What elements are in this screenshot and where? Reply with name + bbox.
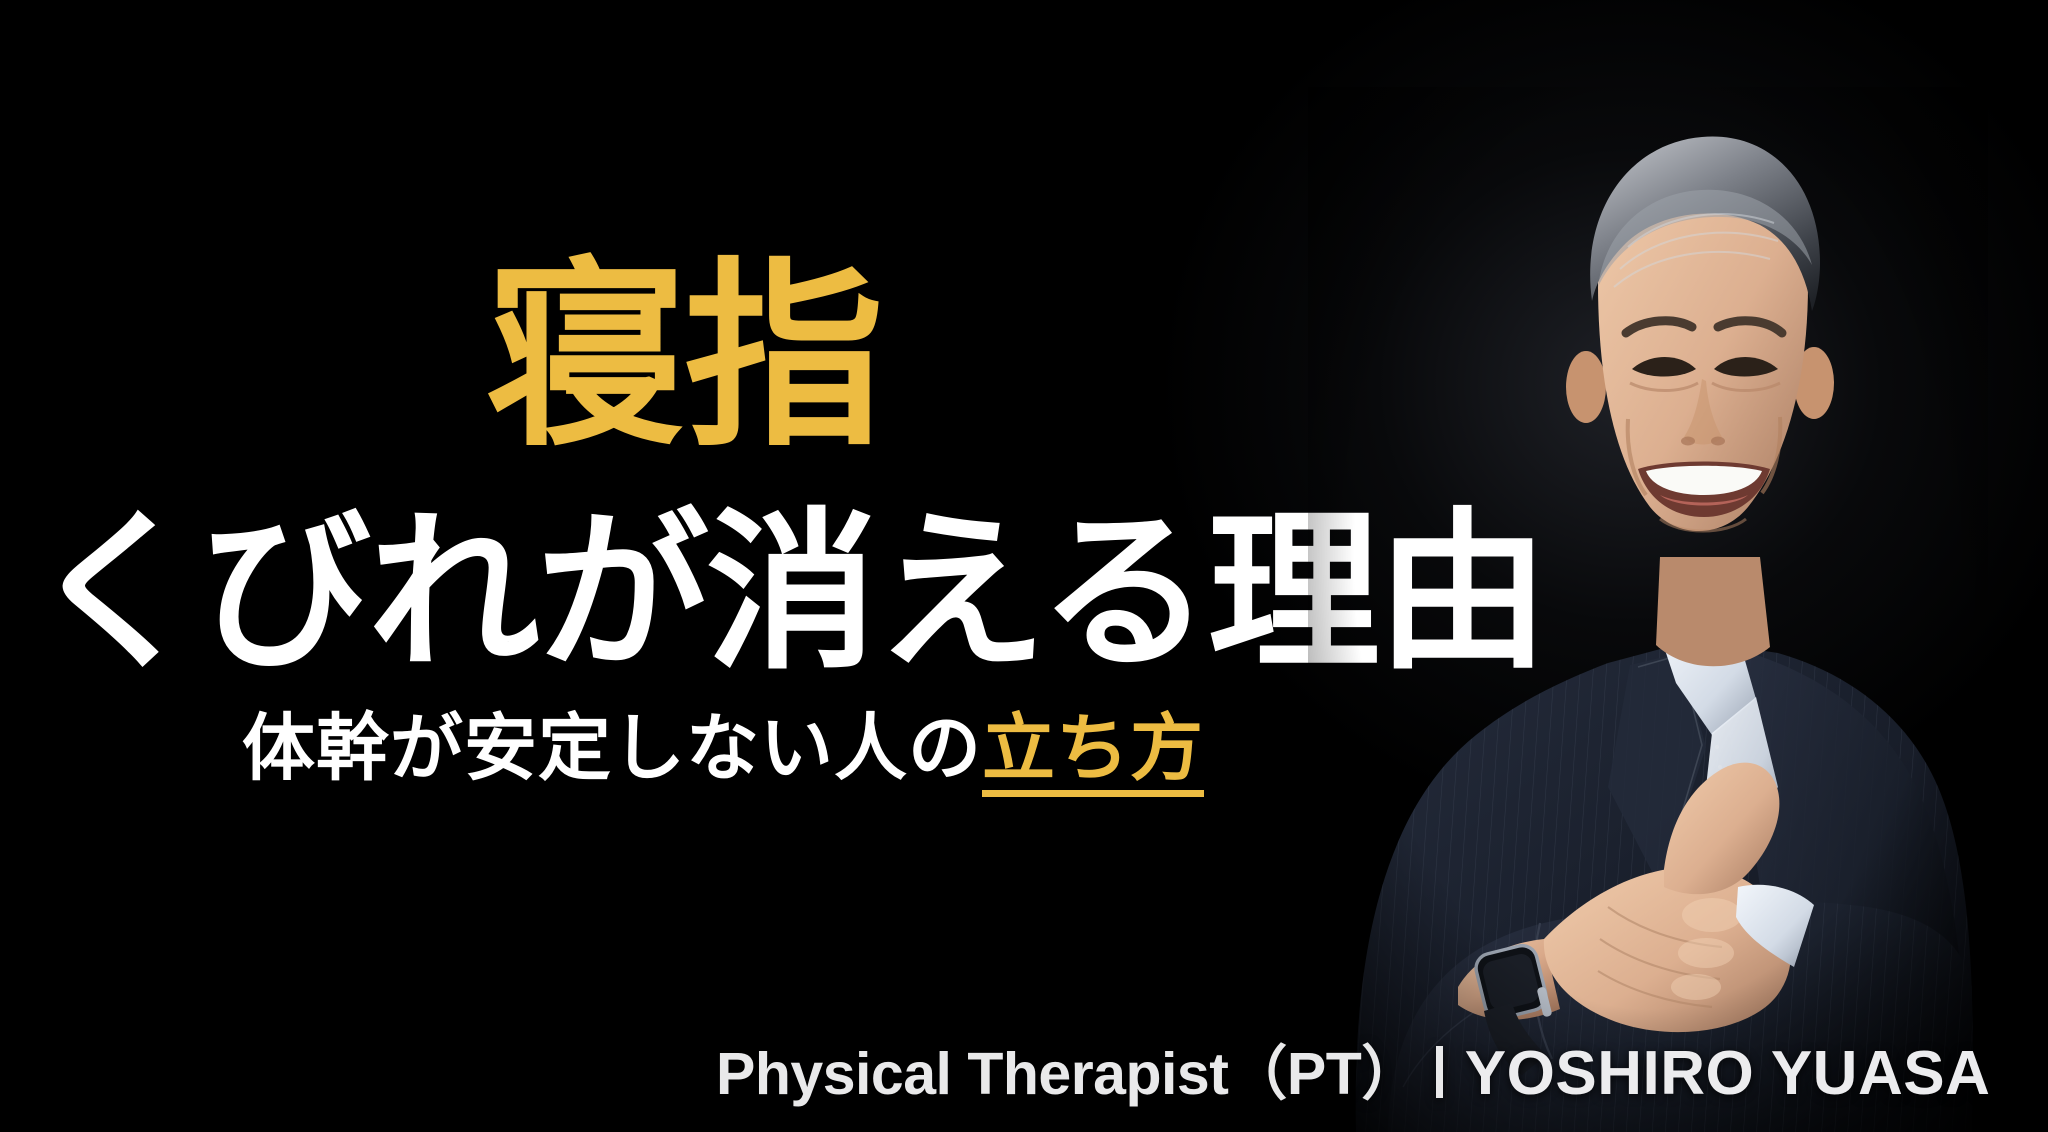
credit-separator	[1436, 1046, 1443, 1098]
subtitle: 体幹が安定しない人の立ち方	[242, 712, 1204, 785]
portrait-photo	[1308, 87, 1988, 1132]
credit-line: Physical Therapist（PT） YOSHIRO YUASA	[716, 1026, 1990, 1111]
subtitle-plain: 体幹が安定しない人の	[242, 708, 982, 789]
credit-name: YOSHIRO YUASA	[1465, 1038, 1991, 1109]
subtitle-highlight: 立ち方	[982, 708, 1204, 797]
credit-role: Physical Therapist（PT）	[716, 1026, 1420, 1111]
headline-keyword: 寝指	[486, 258, 882, 458]
thumbnail-canvas: 寝指 くびれが消える理由 体幹が安定しない人の立ち方 Physical Ther…	[0, 0, 2048, 1132]
headline-block: 寝指 くびれが消える理由 体幹が安定しない人の立ち方	[0, 0, 1400, 1132]
